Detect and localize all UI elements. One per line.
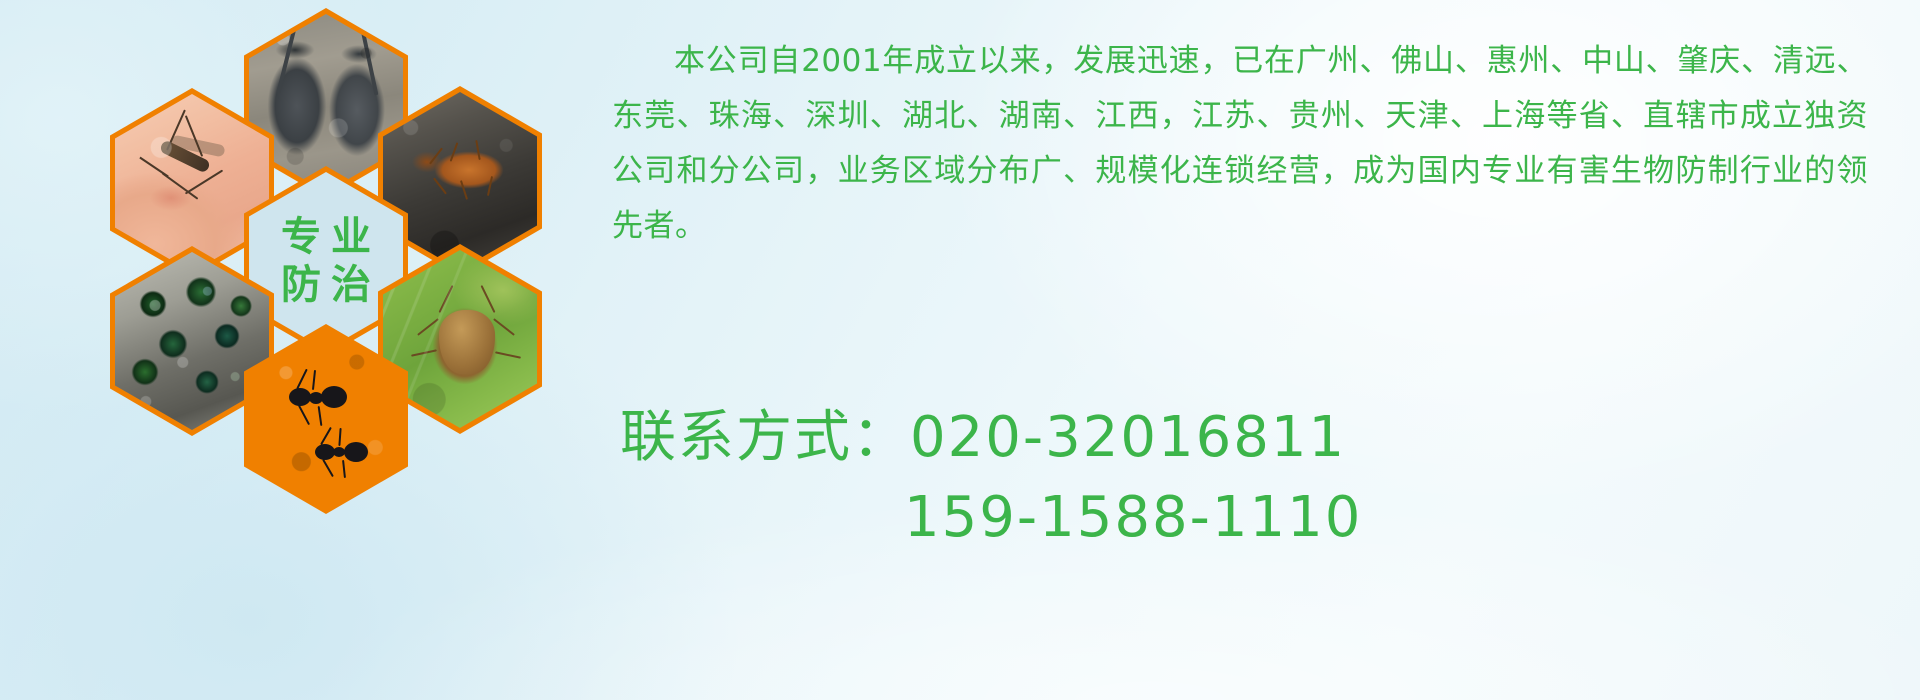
stinkbug-leg-icon xyxy=(493,318,515,336)
mosquito-wing-icon xyxy=(170,135,225,158)
mosquito-leg-icon xyxy=(166,109,186,150)
stinkbug-antenna-icon xyxy=(481,285,496,313)
hex-photo-ants-inner xyxy=(249,330,403,508)
contact-secondary-line[interactable]: 159-1588-1110 xyxy=(620,478,1890,558)
contact-block: 联系方式：020-32016811 159-1588-1110 xyxy=(620,398,1890,558)
mosquito-body-icon xyxy=(159,139,211,173)
ants-image xyxy=(249,330,403,508)
company-description-block: 本公司自2001年成立以来，发展迅速，已在广州、佛山、惠州、中山、肇庆、清远、东… xyxy=(612,34,1868,254)
rat-tail-icon xyxy=(276,23,297,94)
cockroach-legs-icon xyxy=(429,146,515,202)
slogan-line-2: 防治 xyxy=(271,264,381,306)
honeycomb-logo-cluster: 专业 防治 xyxy=(96,6,596,566)
mosquito-leg-icon xyxy=(185,169,223,194)
company-description-text: 本公司自2001年成立以来，发展迅速，已在广州、佛山、惠州、中山、肇庆、清远、东… xyxy=(612,34,1868,254)
slogan-line-1: 专业 xyxy=(271,216,381,258)
rat-tail-icon xyxy=(360,24,379,95)
stinkbug-leg-icon xyxy=(411,349,437,356)
stinkbug-shell-icon xyxy=(439,310,495,374)
stinkbug-leg-icon xyxy=(417,318,439,336)
mosquito-proboscis-icon xyxy=(139,157,168,178)
mosquito-leg-icon xyxy=(185,115,203,157)
mosquito-leg-icon xyxy=(162,172,199,199)
pest-control-banner: 专业 防治 xyxy=(0,0,1920,700)
contact-primary-line[interactable]: 联系方式：020-32016811 xyxy=(620,398,1890,478)
stinkbug-antenna-icon xyxy=(439,285,454,313)
stinkbug-leg-icon xyxy=(495,351,521,358)
